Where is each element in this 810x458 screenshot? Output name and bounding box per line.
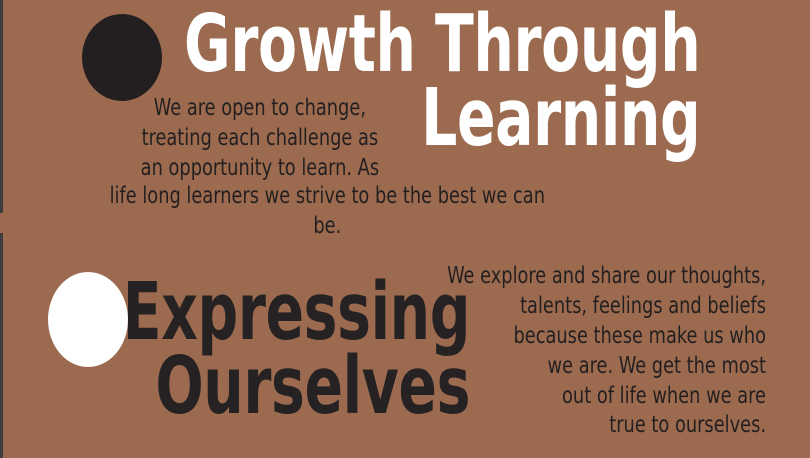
- heading-line-1: Expressing: [123, 275, 470, 349]
- body-text-growth: We are open to change, treating each cha…: [118, 94, 402, 184]
- heading-line-2: Ourselves: [123, 349, 470, 423]
- body-text-expressing: We explore and share our thoughts, talen…: [434, 262, 766, 441]
- heading-line-1: Growth Through: [184, 7, 700, 81]
- dropcap-ellipse-dark: [82, 14, 162, 101]
- heading-expressing-ourselves: Expressing Ourselves: [123, 275, 470, 424]
- poster-canvas: Growth Through Learning We are open to c…: [0, 0, 810, 458]
- dropcap-letter-g: G: [184, 0, 230, 90]
- section-growth-through-learning: Growth Through Learning We are open to c…: [0, 0, 810, 229]
- dropcap-letter-e: E: [123, 266, 161, 358]
- section-expressing-ourselves: Expressing Ourselves We explore and shar…: [0, 229, 810, 458]
- dropcap-ellipse-light: [48, 272, 128, 367]
